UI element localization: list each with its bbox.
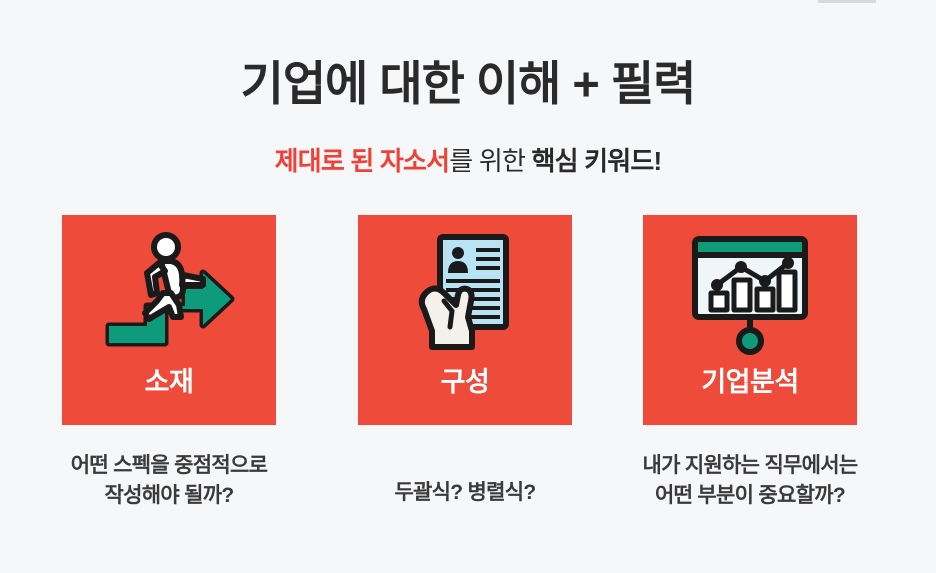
keyword-card-gieopbunseok[interactable]: 기업분석 bbox=[643, 215, 857, 425]
caption-guseong: 두괄식? 병렬식? bbox=[336, 478, 594, 508]
card-label-gieopbunseok: 기업분석 bbox=[701, 360, 798, 399]
keyword-card-group: 소재 bbox=[0, 215, 936, 430]
keyword-card-soje[interactable]: 소재 bbox=[62, 215, 276, 425]
subtitle-bold: 핵심 키워드 bbox=[532, 146, 654, 176]
subtitle-end: ! bbox=[654, 146, 662, 176]
keyword-card-guseong[interactable]: 구성 bbox=[358, 215, 572, 425]
subtitle-mid: 를 위한 bbox=[449, 146, 531, 176]
caption-soje: 어떤 스펙을 중점적으로 작성해야 될까? bbox=[14, 451, 324, 512]
hand-holding-resume-icon bbox=[410, 231, 520, 356]
card-label-soje: 소재 bbox=[145, 360, 194, 399]
subtitle-highlight: 제대로 된 자소서 bbox=[275, 146, 450, 176]
caption-gieopbunseok: 내가 지원하는 직무에서는 어떤 부분이 중요할까? bbox=[590, 451, 910, 512]
page-title: 기업에 대한 이해 + 필력 bbox=[0, 58, 936, 110]
person-climbing-stairs-arrow-icon bbox=[99, 231, 239, 356]
infographic-page: 기업에 대한 이해 + 필력 제대로 된 자소서를 위한 핵심 키워드! bbox=[0, 0, 936, 573]
top-edge-divider bbox=[818, 0, 876, 3]
presentation-chart-board-icon bbox=[687, 231, 813, 356]
caption-group: 어떤 스펙을 중점적으로 작성해야 될까? 두괄식? 병렬식? 내가 지원하는 … bbox=[0, 445, 936, 555]
card-label-guseong: 구성 bbox=[441, 360, 490, 399]
page-subtitle: 제대로 된 자소서를 위한 핵심 키워드! bbox=[0, 141, 936, 178]
